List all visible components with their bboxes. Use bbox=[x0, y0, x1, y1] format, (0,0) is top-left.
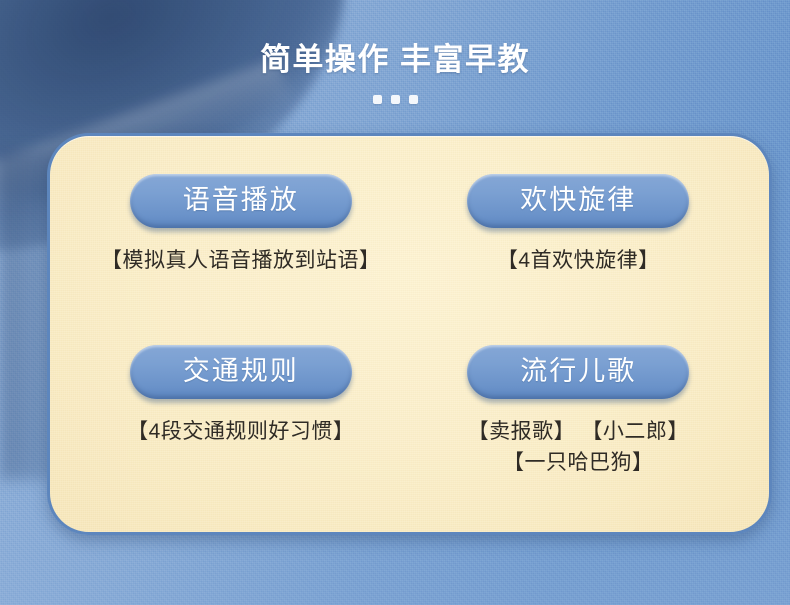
feature-caption-line: 【卖报歌】 【小二郎】 bbox=[468, 420, 689, 443]
feature-item-traffic-rules: 交通规则 【4段交通规则好习惯】 bbox=[72, 341, 410, 508]
feature-card: 语音播放 【模拟真人语音播放到站语】 欢快旋律 【4首欢快旋律】 交通规则 bbox=[47, 133, 772, 535]
feature-caption-popular-kids-songs: 【卖报歌】 【小二郎】 【一只哈巴狗】 bbox=[468, 416, 689, 478]
title-dot-separator bbox=[0, 95, 790, 104]
feature-item-voice-playback: 语音播放 【模拟真人语音播放到站语】 bbox=[72, 174, 410, 341]
promo-poster: 简单操作 丰富早教 语音播放 【模拟真人语音播放到站语】 欢快旋律 bbox=[0, 0, 790, 605]
page-title: 简单操作 丰富早教 bbox=[0, 40, 790, 80]
separator-dot bbox=[373, 95, 382, 104]
feature-pill-label: 语音播放 bbox=[156, 183, 326, 217]
feature-caption-line: 【4首欢快旋律】 bbox=[497, 249, 660, 272]
feature-caption-traffic-rules: 【4段交通规则好习惯】 bbox=[127, 416, 354, 447]
feature-pill-label: 流行儿歌 bbox=[493, 354, 663, 388]
feature-pill-label: 欢快旋律 bbox=[493, 183, 663, 217]
feature-caption-line: 【4段交通规则好习惯】 bbox=[127, 420, 354, 443]
feature-pill-popular-kids-songs[interactable]: 流行儿歌 bbox=[467, 345, 689, 399]
separator-dot bbox=[391, 95, 400, 104]
feature-pill-cheerful-melody[interactable]: 欢快旋律 bbox=[467, 174, 689, 228]
feature-pill-voice-playback[interactable]: 语音播放 bbox=[130, 174, 352, 228]
feature-caption-voice-playback: 【模拟真人语音播放到站语】 bbox=[101, 245, 381, 276]
feature-pill-label: 交通规则 bbox=[156, 354, 326, 388]
separator-dot bbox=[409, 95, 418, 104]
feature-item-cheerful-melody: 欢快旋律 【4首欢快旋律】 bbox=[410, 174, 748, 341]
feature-caption-line: 【模拟真人语音播放到站语】 bbox=[101, 249, 381, 272]
feature-pill-traffic-rules[interactable]: 交通规则 bbox=[130, 345, 352, 399]
feature-grid: 语音播放 【模拟真人语音播放到站语】 欢快旋律 【4首欢快旋律】 交通规则 bbox=[50, 136, 769, 532]
feature-caption-line-secondary: 【一只哈巴狗】 bbox=[468, 447, 689, 478]
feature-item-popular-kids-songs: 流行儿歌 【卖报歌】 【小二郎】 【一只哈巴狗】 bbox=[410, 341, 748, 508]
feature-caption-cheerful-melody: 【4首欢快旋律】 bbox=[497, 245, 660, 276]
